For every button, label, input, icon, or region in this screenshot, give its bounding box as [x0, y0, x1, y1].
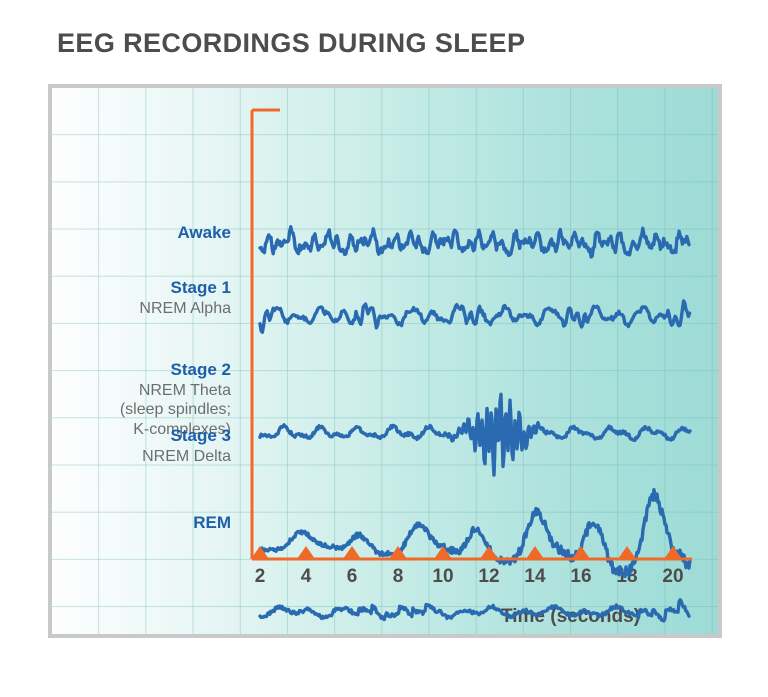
tick-markers	[251, 546, 682, 559]
eeg-traces	[260, 227, 690, 621]
tick-marker-12	[480, 546, 498, 559]
chart-axis	[252, 110, 692, 559]
tick-marker-14	[526, 546, 544, 559]
tick-marker-18	[618, 546, 636, 559]
eeg-trace-awake	[260, 227, 689, 257]
page-title: EEG RECORDINGS DURING SLEEP	[57, 28, 525, 59]
tick-marker-4	[297, 546, 315, 559]
eeg-trace-rem	[260, 600, 689, 621]
eeg-trace-stage-1	[260, 301, 690, 332]
tick-marker-2	[251, 546, 269, 559]
eeg-trace-stage-3	[260, 490, 690, 577]
eeg-chart: Awake Stage 1 NREM Alpha Stage 2 NREM Th…	[48, 84, 722, 638]
eeg-plot-svg	[52, 88, 718, 634]
eeg-trace-stage-2	[260, 394, 690, 475]
